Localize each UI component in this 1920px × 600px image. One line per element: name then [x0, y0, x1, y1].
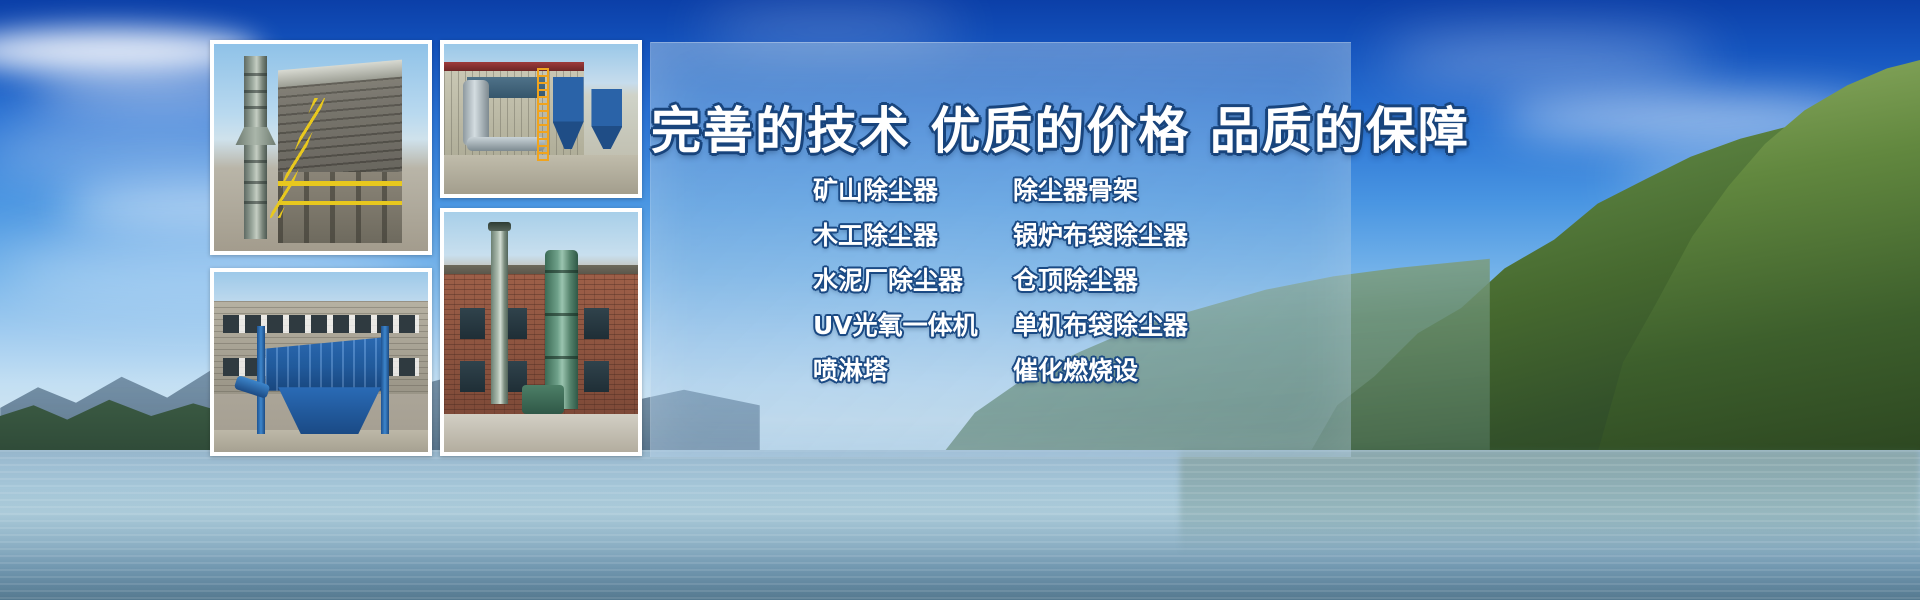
- banner-headline: 完善的技术 优质的价格 品质的保障: [651, 91, 1351, 163]
- photo-gallery: [210, 40, 642, 456]
- product-name[interactable]: 单机布袋除尘器: [1013, 306, 1313, 342]
- water-surface-shimmer: [0, 450, 1920, 600]
- product-name[interactable]: UV光氧一体机: [813, 306, 1013, 342]
- scrubber-tower-image: [444, 212, 638, 452]
- product-name[interactable]: 仓顶除尘器: [1013, 261, 1313, 297]
- product-row: UV光氧一体机 单机布袋除尘器: [813, 306, 1343, 351]
- product-name[interactable]: 水泥厂除尘器: [813, 261, 1013, 297]
- promo-banner: 完善的技术 优质的价格 品质的保障 矿山除尘器 除尘器骨架 木工除尘器 锅炉布袋…: [0, 0, 1920, 600]
- workshop-duct-image: [444, 44, 638, 194]
- baghouse-dust-collector-image: [214, 44, 428, 251]
- product-list: 矿山除尘器 除尘器骨架 木工除尘器 锅炉布袋除尘器 水泥厂除尘器 仓顶除尘器 U…: [813, 171, 1343, 396]
- blue-pulse-jet-collector-image: [214, 272, 428, 452]
- product-row: 木工除尘器 锅炉布袋除尘器: [813, 216, 1343, 261]
- photo-thumbnail[interactable]: [210, 268, 432, 456]
- product-row: 喷淋塔 催化燃烧设: [813, 351, 1343, 396]
- product-name[interactable]: 矿山除尘器: [813, 171, 1013, 207]
- cloud-shape: [700, 14, 960, 44]
- product-name[interactable]: 喷淋塔: [813, 351, 1013, 387]
- product-row: 水泥厂除尘器 仓顶除尘器: [813, 261, 1343, 306]
- photo-thumbnail[interactable]: [440, 208, 642, 456]
- text-panel: 完善的技术 优质的价格 品质的保障 矿山除尘器 除尘器骨架 木工除尘器 锅炉布袋…: [650, 42, 1351, 457]
- product-name[interactable]: 锅炉布袋除尘器: [1013, 216, 1313, 252]
- product-row: 矿山除尘器 除尘器骨架: [813, 171, 1343, 216]
- product-name[interactable]: 催化燃烧设: [1013, 351, 1313, 387]
- photo-thumbnail[interactable]: [210, 40, 432, 255]
- cloud-shape: [1380, 34, 1710, 84]
- product-name[interactable]: 除尘器骨架: [1013, 171, 1313, 207]
- product-name[interactable]: 木工除尘器: [813, 216, 1013, 252]
- photo-thumbnail[interactable]: [440, 40, 642, 198]
